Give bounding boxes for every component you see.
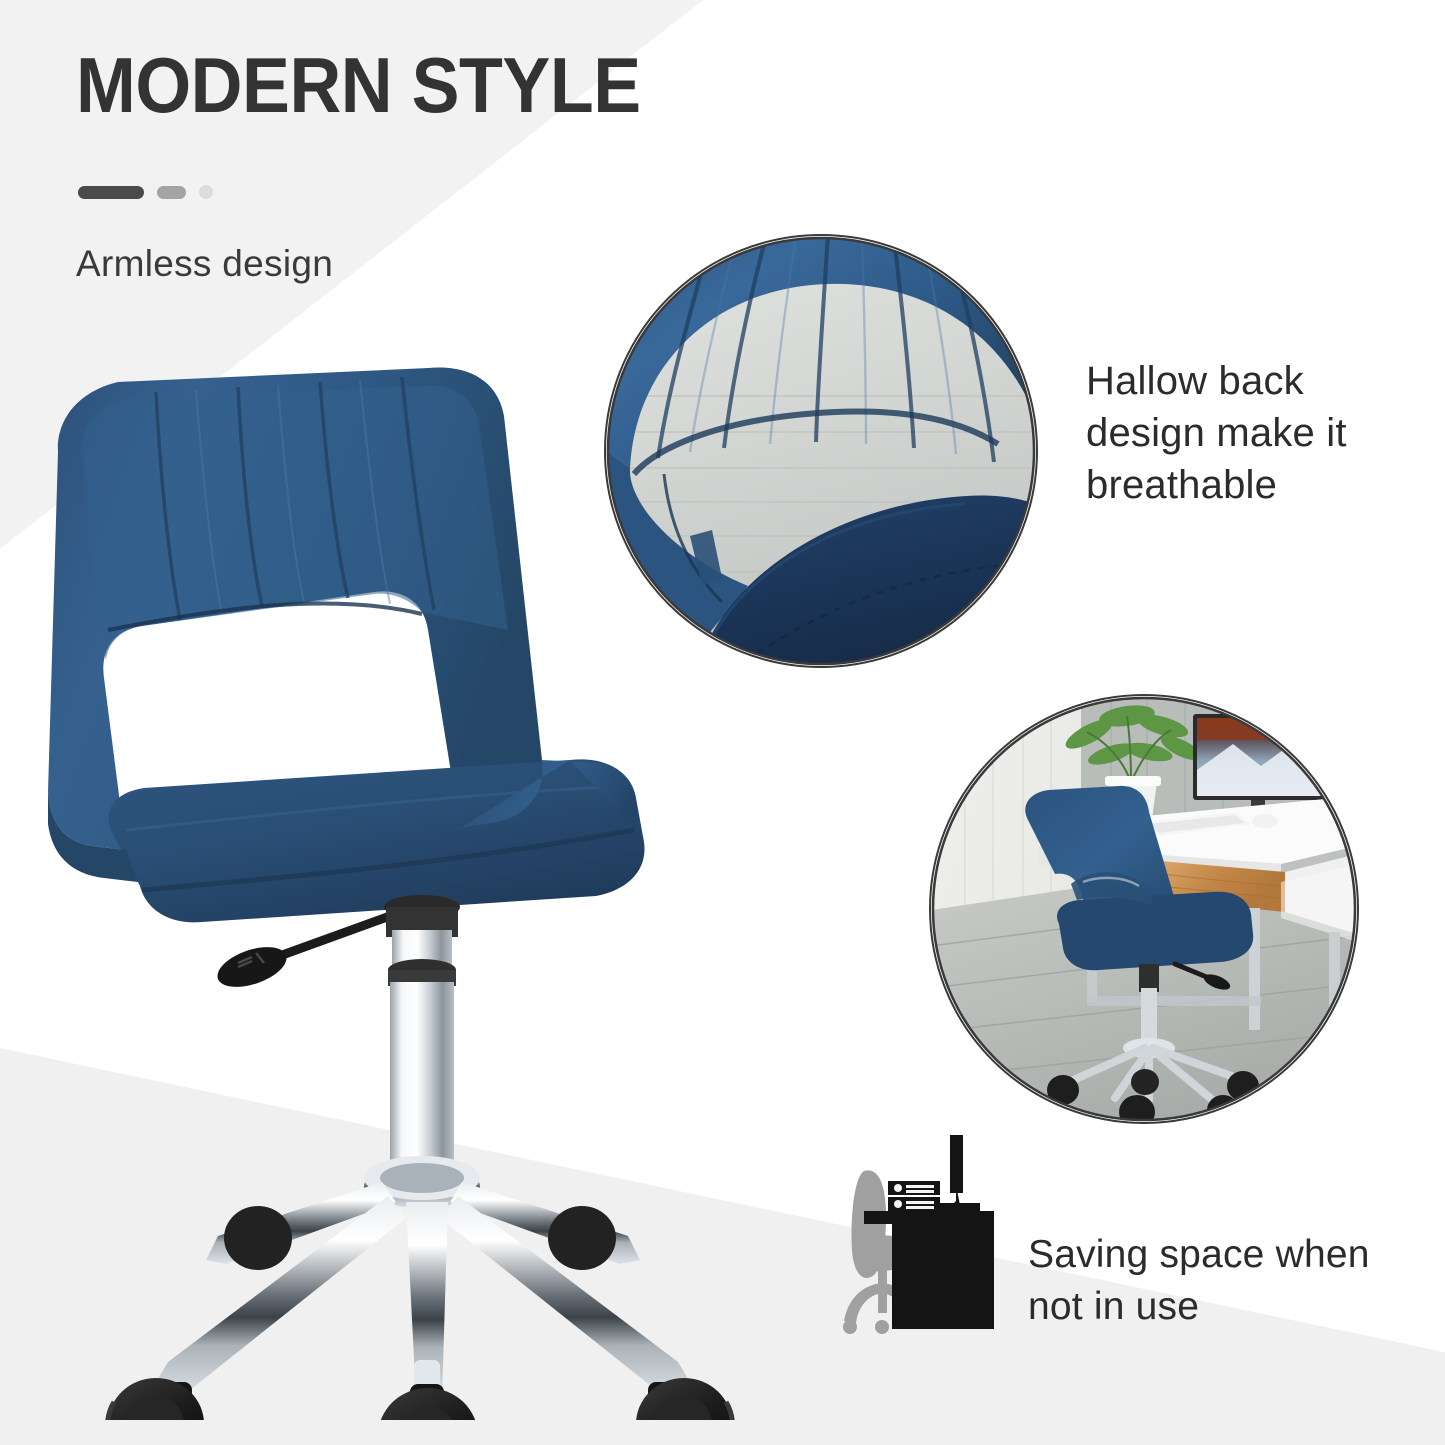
inset-room-scene xyxy=(929,694,1359,1124)
infographic-canvas: MODERN STYLE Armless design xyxy=(0,0,1445,1445)
caster-back-left xyxy=(224,1206,292,1270)
inset-hollow-back-closeup xyxy=(604,234,1038,668)
chair-seat xyxy=(109,759,645,922)
binders-icon xyxy=(888,1181,940,1211)
page-subtitle: Armless design xyxy=(76,243,333,285)
height-adjustment-lever xyxy=(212,916,390,995)
dash-dot-icon xyxy=(199,185,213,199)
chair-base-star xyxy=(150,1156,696,1404)
dash-medium-icon xyxy=(157,186,186,199)
caster-front-center xyxy=(378,1384,478,1420)
callout-hallow-back: Hallow back design make it breathable xyxy=(1086,355,1426,511)
desk-with-chair-icon xyxy=(826,1133,1021,1338)
monitor-icon xyxy=(938,1135,980,1211)
caster-front-left xyxy=(108,1378,204,1420)
gas-lift-cylinder xyxy=(384,895,460,1183)
caster-front-right xyxy=(636,1378,732,1420)
page-title: MODERN STYLE xyxy=(76,48,641,122)
dash-large-icon xyxy=(78,186,144,199)
decorative-dashes xyxy=(78,185,213,199)
caster-back-right xyxy=(548,1206,616,1270)
callout-saving-space: Saving space when not in use xyxy=(1028,1229,1408,1333)
